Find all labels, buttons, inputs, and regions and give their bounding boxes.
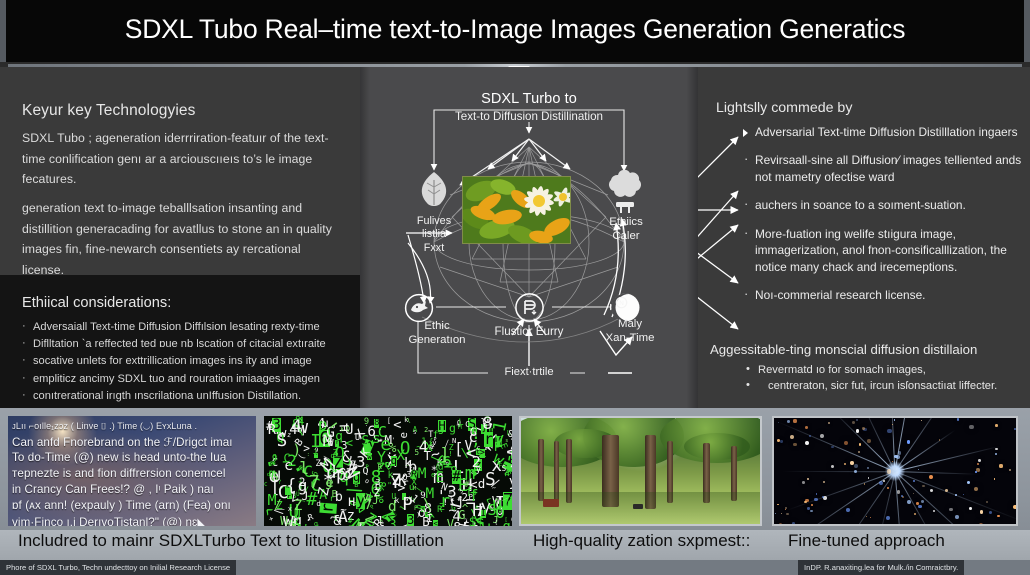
park-object-icon <box>633 504 643 509</box>
node-label-fulives: Fulives listlia Fxxt <box>382 215 486 255</box>
park-trees-photo-thumbnail[interactable] <box>519 416 762 526</box>
page-title: SDXL Tubo Real–time text-to-Image Images… <box>0 14 1030 45</box>
park-bench-icon <box>543 499 560 507</box>
right-heading-2: Aggessitable-ting monscial diffusion dis… <box>710 342 977 357</box>
caption-2: High-quality zation sxpmest:: <box>533 531 750 551</box>
soup-line: ᴛepnezte is and fion diffrersion conemce… <box>12 467 254 480</box>
footnote-2: InDP. R.anaxiting.lea for Mulk./in Comra… <box>798 560 964 575</box>
list-item: Revermatd ıo for somach images, <box>746 363 1030 379</box>
list-item: conıtrerational irıgth ınscrilationa unI… <box>22 388 344 405</box>
svg-text:N: N <box>619 301 623 307</box>
poster-root: SDXL Tubo Real–time text-to-Image Images… <box>0 0 1030 575</box>
center-column: SDXL Turbo to Text-to Diffusion Distilli… <box>360 67 698 408</box>
node-label-maly-xan-time: Maly Xan-Time <box>578 317 682 345</box>
node-label-line: Maly Xan-Time <box>578 317 682 345</box>
soup-line: ᴊLıı ⌐oılle₁ᴢɔᴢ ( Linve ⌷ .) Time (◡) Eʏ… <box>12 421 254 432</box>
caption-1: Includred to mainr SDXLTurbo Text to lit… <box>18 531 444 551</box>
title-bar: SDXL Tubo Real–time text-to-Image Images… <box>0 0 1030 62</box>
node-label-ethiics-caler: Ethiics Caler <box>584 215 668 243</box>
green-glyph-soup-thumbnail[interactable]: $rJfQ'l_<PjhsTU!bWY%SC%fqV%9hTr}K^~qE?.y… <box>264 416 512 526</box>
key-technologies-panel: Keyur key Technologyies SDXL Tubo ; agen… <box>0 67 360 275</box>
footnote-1: Phore of SDXL Turbo, Techn undecttoy on … <box>0 560 236 575</box>
soup-line: Can anfd Fnorebrand on the ℱ/Drigct imaı <box>12 435 254 449</box>
list-item: More-fuation ing welife stıigura image, … <box>742 226 1022 275</box>
main-band: Keyur key Technologyies SDXL Tubo ; agen… <box>0 67 1030 408</box>
left-column: Keyur key Technologyies SDXL Tubo ; agen… <box>0 67 360 408</box>
list-item: Noı-commerial research license. <box>742 287 1022 303</box>
list-item: empliticz ancimy SDXL tuo and rouration … <box>22 371 344 388</box>
connector-label-text: Fiext·trtile <box>492 366 566 380</box>
key-technologies-paragraph-1: SDXL Tubo ; ageneration iderrriration-fe… <box>22 128 340 190</box>
key-technologies-paragraph-2: generation text to-image teballlsation i… <box>22 198 340 281</box>
right-list-2: Revermatd ıo for somach images, centrera… <box>746 363 1030 395</box>
green-glyph-soup-art: $rJfQ'l_<PjhsTU!bWY%SC%fqV%9hTr}K^~qE?.y… <box>264 416 512 526</box>
node-label-flustior-eurry: Flustior Eurry <box>473 325 585 339</box>
list-item: Adversaiall Text-time Diffusion Diffılsi… <box>22 319 344 336</box>
ethical-considerations-list: Adversaiall Text-time Diffusion Diffılsi… <box>22 319 344 405</box>
diagram-bottom-connector-label: Fiext·trtile <box>488 366 570 380</box>
starburst-photo-art <box>774 418 1016 524</box>
right-column: Lightslly commede by Adversarial Text-ti… <box>698 67 1030 408</box>
ethical-considerations-heading: Ethiical considerations: <box>22 295 344 311</box>
bottom-strip: ᴊLıı ⌐oılle₁ᴢɔᴢ ( Linve ⌷ .) Time (◡) Eʏ… <box>0 408 1030 575</box>
node-label-line: Ethiics Caler <box>584 215 668 243</box>
thumbnail-row: ᴊLıı ⌐oılle₁ᴢɔᴢ ( Linve ⌷ .) Time (◡) Eʏ… <box>0 408 1030 530</box>
list-item: centreraton, sicr fut, ircun isſonsactiı… <box>746 379 1030 395</box>
node-label-line: Fulives listlia Fxxt <box>382 215 486 255</box>
right-heading: Lightslly commede by <box>716 100 852 116</box>
list-item: socative unlets for exttrillication imag… <box>22 353 344 370</box>
list-item: auchers in soance to a soıment-suation. <box>742 197 1022 213</box>
ethical-considerations-panel: Ethiical considerations: Adversaiall Tex… <box>0 275 360 408</box>
park-photo-art <box>521 418 760 524</box>
blue-text-soup-art: ᴊLıı ⌐oılle₁ᴢɔᴢ ( Linve ⌷ .) Time (◡) Eʏ… <box>8 416 256 526</box>
node-label-line: Flustior Eurry <box>473 325 585 339</box>
right-list: Adversarial Text-time Diffusion Distilll… <box>742 124 1022 315</box>
list-item: Diflltation `a reffected ted ɒue nb lsca… <box>22 336 344 353</box>
soup-line: To do-Time (@) new is head unto-the Ιua <box>12 451 254 464</box>
blue-text-soup-thumbnail[interactable]: ᴊLıı ⌐oılle₁ᴢɔᴢ ( Linve ⌷ .) Time (◡) Eʏ… <box>8 416 256 526</box>
soup-line: in Crancy Can Frees!? @ , Ιᶦ Paik ) naı <box>12 483 254 496</box>
soup-line: ᴠim·Finco ı,i DerıvoTistanl?" (@) nɛ◣ <box>12 515 254 526</box>
architecture-diagram: SDXL Turbo to Text-to Diffusion Distilli… <box>360 67 698 408</box>
list-item: Revirsaall-sine all Diffusion⁄ images te… <box>742 152 1022 185</box>
key-technologies-heading: Keyur key Technologyies <box>22 102 340 120</box>
list-item: Adversarial Text-time Diffusion Distilll… <box>742 124 1022 140</box>
starburst-space-photo-thumbnail[interactable] <box>772 416 1018 526</box>
caption-3: Fine-tuned approach <box>788 531 945 551</box>
soup-line: ɒf (ᴀx ann! (expauly ) Time (arn) (Fea) … <box>12 499 254 512</box>
